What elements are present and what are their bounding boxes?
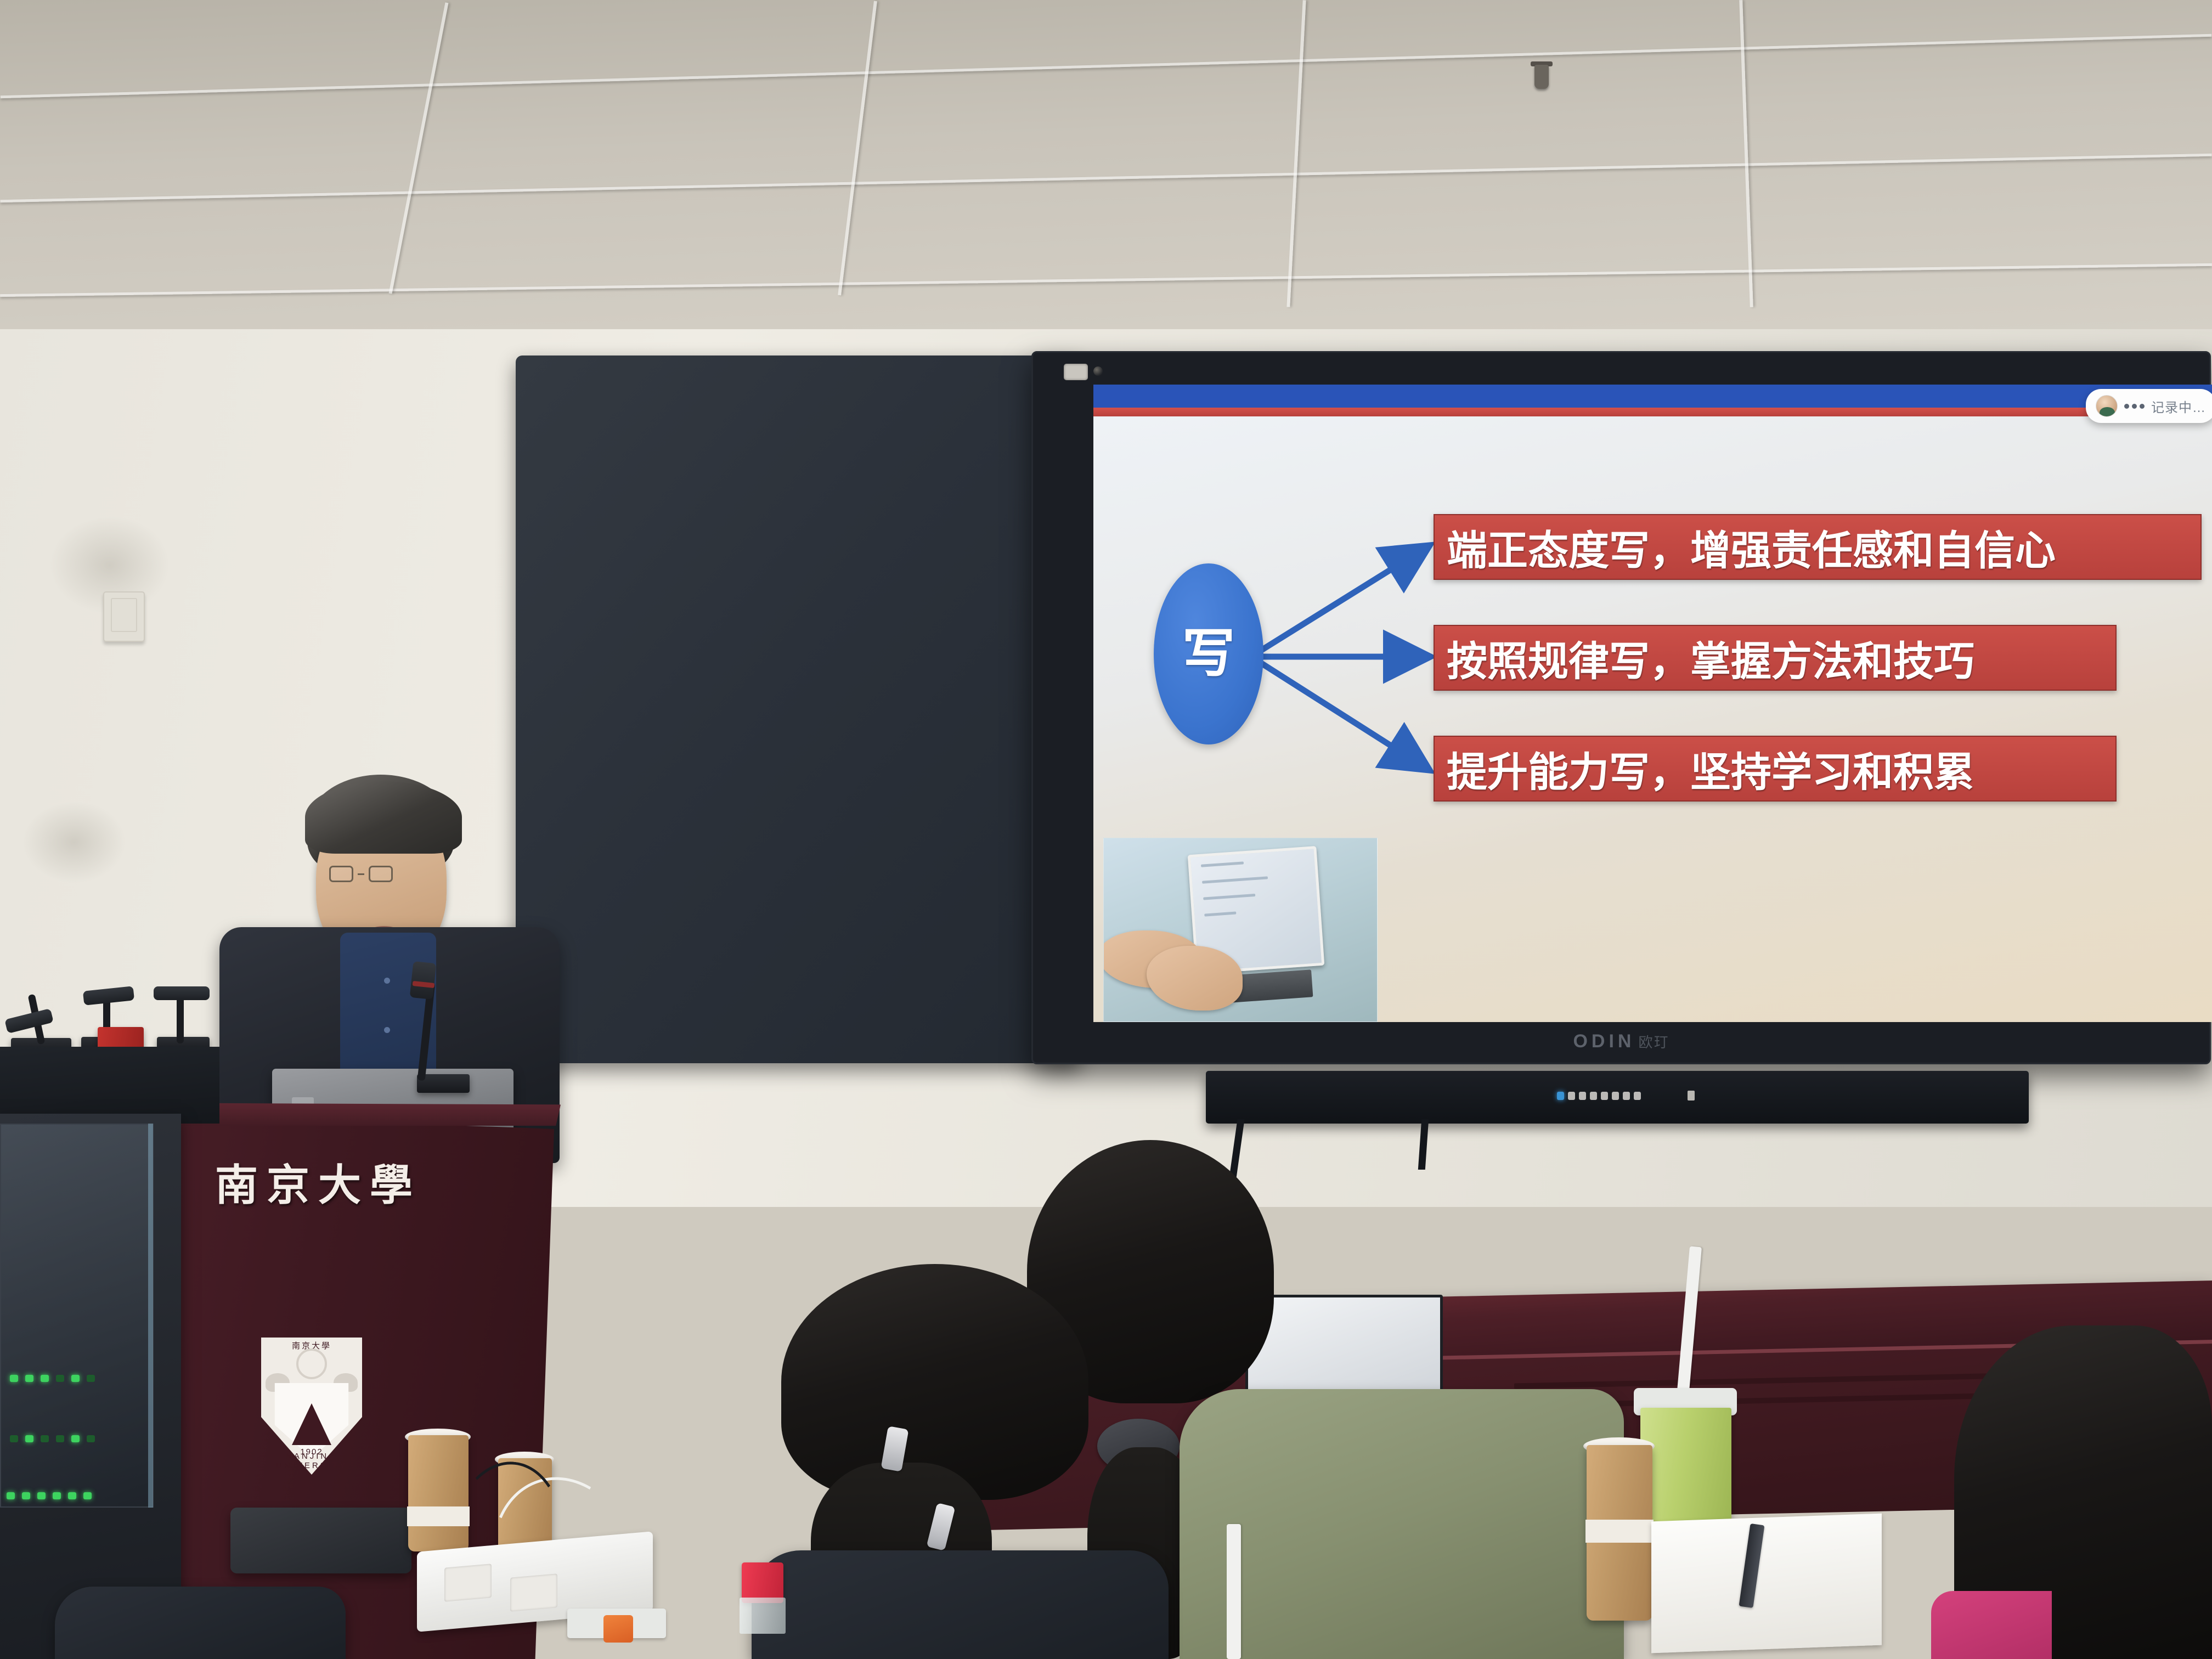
straw <box>1227 1524 1241 1659</box>
podium-mic-head <box>410 961 437 1000</box>
slide-accent-rule <box>1093 408 2212 416</box>
recording-notification-pill[interactable]: 记录中… <box>2086 389 2212 423</box>
interactive-flat-panel-display[interactable]: 写 端正态度写，增强责任感和自信心 按照规律写，掌握方法和技巧 提升能力写，坚持… <box>1031 351 2211 1064</box>
lecture-hall-photo: 写 端正态度写，增强责任感和自信心 按照规律写，掌握方法和技巧 提升能力写，坚持… <box>0 0 2212 1659</box>
blackboard-panel <box>516 356 1081 1063</box>
crest-arc-label: NANJING UNIVERSITY <box>257 1452 366 1470</box>
avatar <box>2096 395 2118 417</box>
more-options-icon[interactable] <box>2124 404 2145 409</box>
university-crest: 南京大學 1902 NANJING UNIVERSITY <box>257 1338 366 1475</box>
rack-led-row <box>7 1492 92 1499</box>
camera-icon <box>1064 364 1088 380</box>
branch-banner-2: 按照规律写，掌握方法和技巧 <box>1434 625 2117 691</box>
rack-glass-door[interactable] <box>0 1124 154 1508</box>
typing-hand <box>1147 946 1243 1011</box>
audience-olive-jacket <box>1180 1389 1624 1659</box>
slide-top-band <box>1093 385 2212 408</box>
speaker-hair <box>305 781 462 854</box>
white-paper-sheet <box>1651 1514 1882 1654</box>
rack-led-row <box>10 1435 95 1442</box>
branch-banner-1-label: 端正态度写，增强责任感和自信心 <box>1435 518 2056 577</box>
orange-item <box>603 1615 633 1643</box>
display-brand-cn-label: 欧玎 <box>1638 1031 1669 1052</box>
soundbar-port-icon <box>1688 1091 1695 1101</box>
soundbar <box>1206 1071 2029 1124</box>
branch-banner-3-label: 提升能力写，坚持学习和积累 <box>1435 740 1974 798</box>
light-switch[interactable] <box>103 591 145 642</box>
audience-pink-top <box>1931 1591 2052 1659</box>
branch-banner-2-label: 按照规律写，掌握方法和技巧 <box>1435 629 1974 687</box>
slide-content-area: 写 端正态度写，增强责任感和自信心 按照规律写，掌握方法和技巧 提升能力写，坚持… <box>1093 416 2212 1022</box>
crest-sun-icon <box>296 1348 327 1379</box>
recording-status-label: 记录中… <box>2151 397 2206 416</box>
center-node-label: 写 <box>1182 628 1235 680</box>
lectern-name-plate: 南京大學 <box>215 1151 421 1212</box>
red-cap-water-bottle <box>742 1562 783 1603</box>
fire-sprinkler-icon <box>1534 65 1549 89</box>
audience-dark-top <box>752 1550 1169 1659</box>
branch-banner-3: 提升能力写，坚持学习和积累 <box>1434 736 2117 802</box>
green-bubble-tea-cup <box>1640 1408 1731 1530</box>
slide-screen[interactable]: 写 端正态度写，增强责任感和自信心 按照规律写，掌握方法和技巧 提升能力写，坚持… <box>1093 385 2212 1022</box>
display-brand-bar: ODIN 欧玎 <box>1033 1020 2209 1063</box>
eyeglasses <box>329 866 393 882</box>
suspended-ceiling <box>0 0 2212 351</box>
display-brand-label: ODIN <box>1573 1031 1635 1052</box>
center-node-ellipse: 写 <box>1154 563 1263 744</box>
chair-back <box>230 1508 411 1573</box>
camera-lens-icon <box>1093 366 1103 376</box>
tablet-photo-inset <box>1103 838 1378 1022</box>
branch-banner-1: 端正态度写，增强责任感和自信心 <box>1434 514 2202 580</box>
crest-pine-tree-icon <box>292 1403 331 1445</box>
audience-dark-top <box>55 1587 346 1659</box>
rack-led-row <box>10 1375 95 1382</box>
soundbar-indicator-leds <box>1557 1092 1641 1100</box>
av-table <box>0 1047 219 1124</box>
